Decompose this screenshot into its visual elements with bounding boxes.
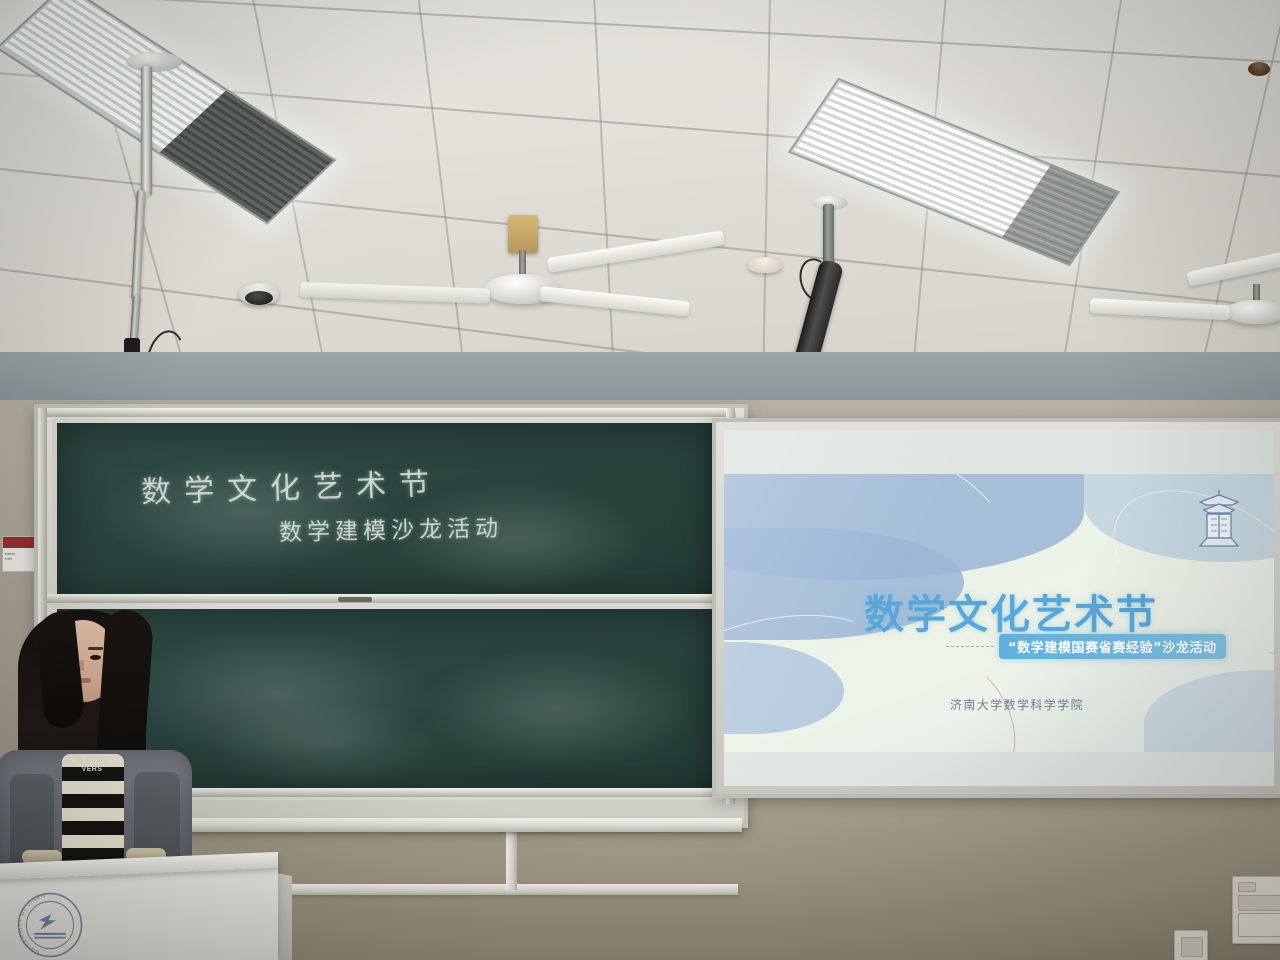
presentation-slide: 数学文化艺术节 “数学建模国赛省赛经验”沙龙活动 济南大学数学科学学院 [724, 474, 1274, 752]
smoke-detector [748, 257, 782, 273]
dashed-rule [946, 646, 994, 647]
chalk-title-line-1: 数学文化艺术节 [140, 459, 442, 511]
dome-camera [239, 283, 279, 305]
slide-organization: 济南大学数学科学学院 [950, 696, 1084, 713]
slide-subtitle: “数学建模国赛省赛经验”沙龙活动 [999, 634, 1226, 659]
eye-right [90, 655, 101, 660]
sweater-graphic: A BANK VERS [66, 756, 118, 778]
slide-title: 数学文化艺术节 [864, 582, 1158, 640]
classroom-photo: ▪▪▪▪▪▪▪▪▪▪▪▪ 数学文化艺术节 数学建模沙龙活动 [0, 0, 1280, 960]
wall-control-panel[interactable] [1232, 876, 1280, 944]
university-of-jinan-seal: UNIVERSITY OF JINAN [8, 892, 92, 958]
slide-subtitle-group: “数学建模国赛省赛经验”沙龙活动 [946, 634, 1226, 659]
wall-light-switch[interactable] [1174, 930, 1208, 960]
board-rail-top [46, 408, 736, 417]
blackboard-upper-panel[interactable]: 数学文化艺术节 数学建模沙龙活动 [52, 418, 722, 608]
pagoda-tower-logo [1192, 488, 1246, 550]
chalk-title-line-2: 数学建模沙龙活动 [279, 509, 504, 548]
sprinkler-head [1248, 62, 1270, 76]
board-rail-middle [46, 594, 736, 603]
projection-screen[interactable]: 数学文化艺术节 “数学建模国赛省赛经验”沙龙活动 济南大学数学科学学院 [712, 418, 1280, 798]
screen-surface: 数学文化艺术节 “数学建模国赛省赛经验”沙龙活动 济南大学数学科学学院 [724, 430, 1274, 786]
board-slide-handle[interactable] [338, 597, 372, 602]
nose [80, 660, 84, 671]
eyebrow-right [88, 647, 103, 650]
